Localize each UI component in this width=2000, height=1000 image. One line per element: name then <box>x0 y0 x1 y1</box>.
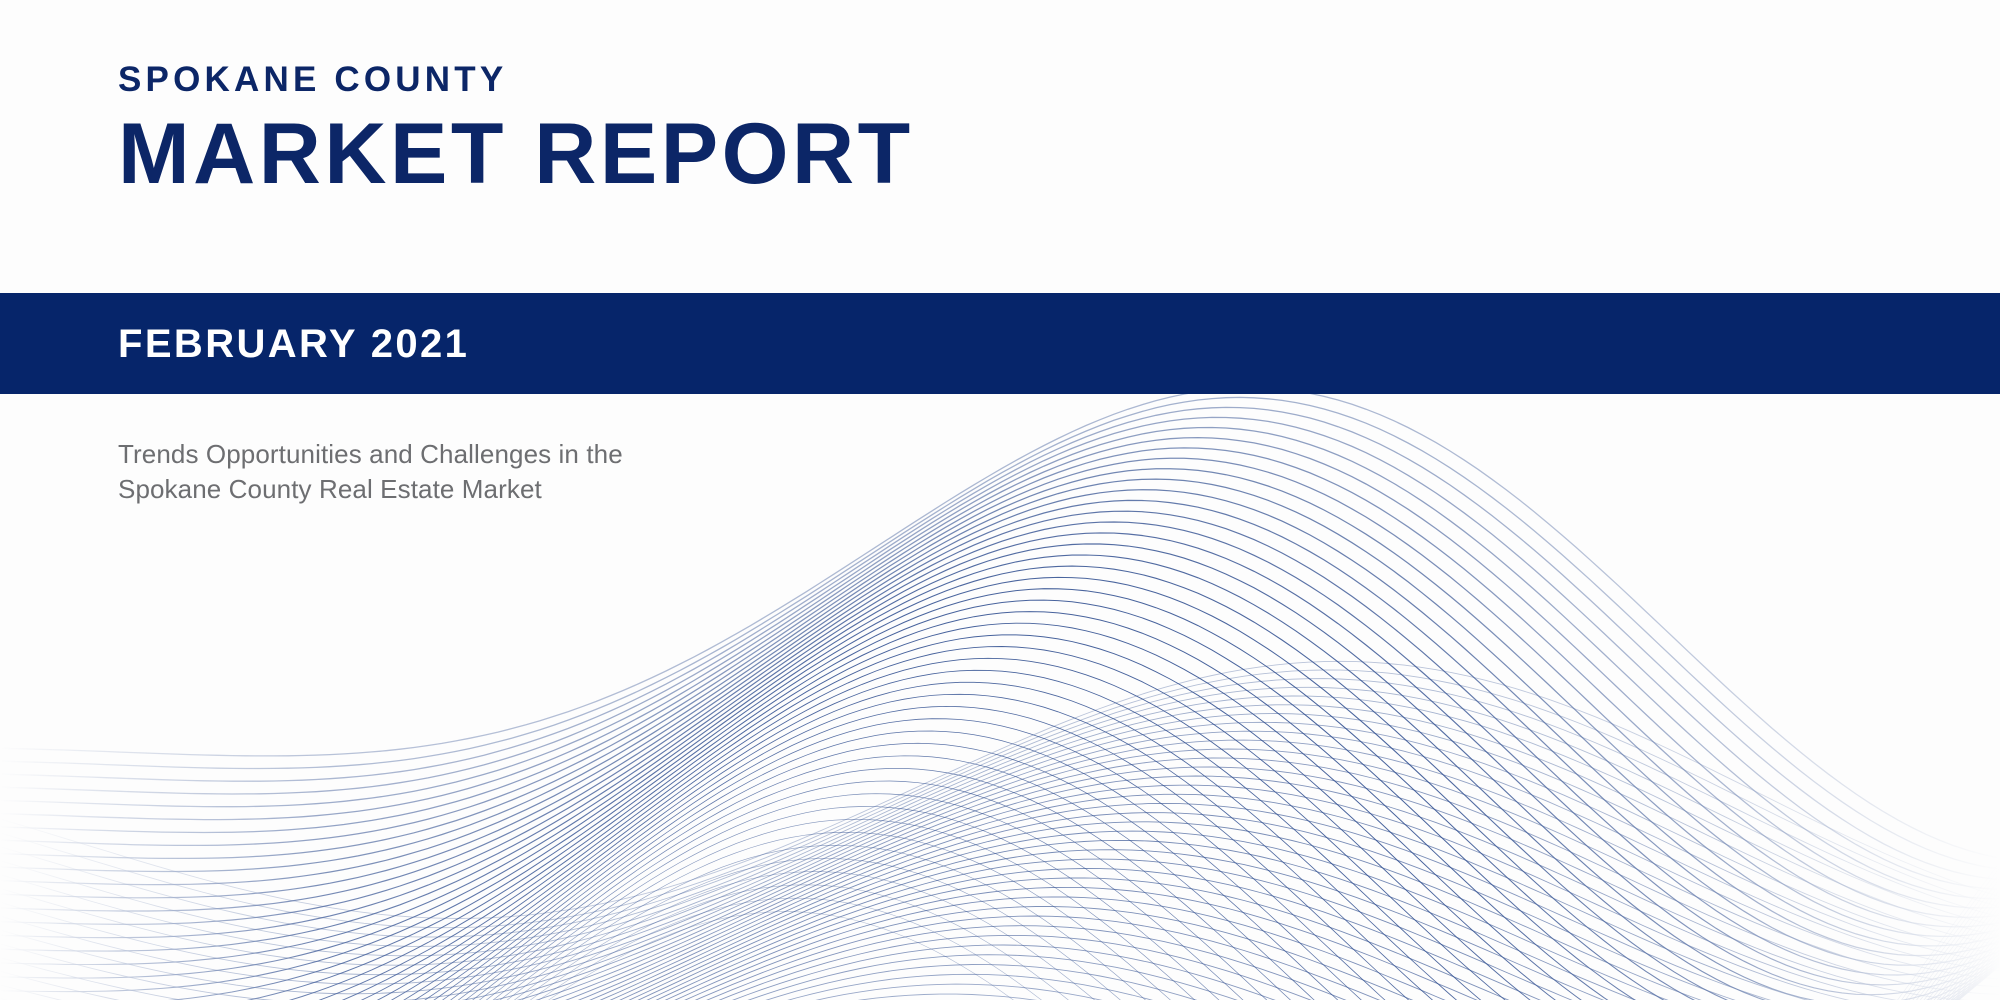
wave-line <box>0 869 2000 1000</box>
wave-line <box>0 679 2000 937</box>
wave-line <box>0 803 2000 1000</box>
wave-line <box>0 511 2000 975</box>
wave-line <box>0 916 2000 1000</box>
wave-line <box>0 955 2000 1000</box>
wave-line <box>0 696 2000 956</box>
wave-line <box>0 661 2000 918</box>
wave-line <box>0 469 2000 937</box>
wave-line <box>0 490 2000 956</box>
wave-line <box>0 819 2000 1000</box>
wave-line <box>0 832 2000 1000</box>
wave-line <box>0 974 2000 1000</box>
wave-line <box>0 555 2000 1000</box>
wave-line <box>0 533 2000 995</box>
wave-line <box>0 719 2000 1000</box>
wave-line <box>0 670 2000 928</box>
wave-line <box>0 589 2000 1000</box>
subtitle-line-1: Trends Opportunities and Challenges in t… <box>118 437 838 472</box>
wave-line <box>0 822 2000 1000</box>
wave-line <box>0 840 2000 1000</box>
wave-line <box>0 623 2000 1000</box>
wave-line <box>0 776 2000 1000</box>
wave-line <box>0 577 2000 1000</box>
wave-line <box>0 785 2000 1000</box>
wave-line <box>0 635 2000 1000</box>
wave-line <box>0 813 2000 1000</box>
wave-line <box>0 945 2000 1000</box>
subtitle-line-2: Spokane County Real Estate Market <box>118 472 838 507</box>
wave-line <box>0 926 2000 1000</box>
title-block: SPOKANE COUNTY MARKET REPORT <box>118 62 1418 197</box>
wave-line <box>0 731 2000 1000</box>
wave-line <box>0 458 2000 927</box>
wave-line <box>0 854 2000 1000</box>
wave-line <box>0 687 2000 946</box>
wave-line <box>0 984 2000 1000</box>
report-cover-page: SPOKANE COUNTY MARKET REPORT FEBRUARY 20… <box>0 0 2000 1000</box>
wave-line <box>0 658 2000 1000</box>
wave-line <box>0 600 2000 1000</box>
wave-line <box>0 850 2000 1000</box>
wave-line <box>0 758 2000 1000</box>
wave-line <box>0 860 2000 1000</box>
wave-line <box>0 647 2000 1000</box>
wave-line <box>0 500 2000 965</box>
wave-line <box>0 749 2000 1000</box>
wave-line <box>0 794 2000 1000</box>
wave-line <box>0 522 2000 985</box>
wave-line <box>0 670 2000 1000</box>
wave-line <box>0 731 2000 994</box>
wave-line <box>0 897 2000 1000</box>
wave-line <box>0 448 2000 918</box>
date-banner-label: FEBRUARY 2021 <box>118 324 469 364</box>
wave-line <box>0 767 2000 1000</box>
wave-line <box>0 714 2000 975</box>
wave-line <box>0 849 2000 1000</box>
eyebrow-county-name: SPOKANE COUNTY <box>118 62 1418 97</box>
wave-line <box>0 722 2000 984</box>
wave-line <box>0 743 2000 1000</box>
wave-line <box>0 479 2000 946</box>
wave-line <box>0 845 2000 1000</box>
wave-line <box>0 887 2000 1000</box>
wave-line <box>0 566 2000 1000</box>
wave-line <box>0 756 2000 1000</box>
wave-line <box>0 794 2000 1000</box>
wave-line <box>0 807 2000 1000</box>
wave-line <box>0 705 2000 965</box>
wave-line <box>0 706 2000 1000</box>
wave-line <box>0 878 2000 1000</box>
wave-line <box>0 907 2000 1000</box>
date-banner: FEBRUARY 2021 <box>0 293 2000 394</box>
wave-line <box>0 438 2000 908</box>
wave-line <box>0 544 2000 1000</box>
wave-line <box>0 768 2000 1000</box>
page-title: MARKET REPORT <box>118 111 1418 197</box>
wave-line <box>0 694 2000 1000</box>
wave-line <box>0 935 2000 1000</box>
wave-line <box>0 612 2000 1000</box>
wave-line <box>0 682 2000 1000</box>
wave-line <box>0 965 2000 1000</box>
wave-line <box>0 994 2000 1000</box>
wave-line <box>0 831 2000 1000</box>
wave-line <box>0 859 2000 1000</box>
subtitle: Trends Opportunities and Challenges in t… <box>118 437 838 508</box>
wave-line <box>0 781 2000 1000</box>
wave-line <box>0 740 2000 1000</box>
wave-line <box>0 858 2000 1000</box>
wave-line <box>0 865 2000 1000</box>
